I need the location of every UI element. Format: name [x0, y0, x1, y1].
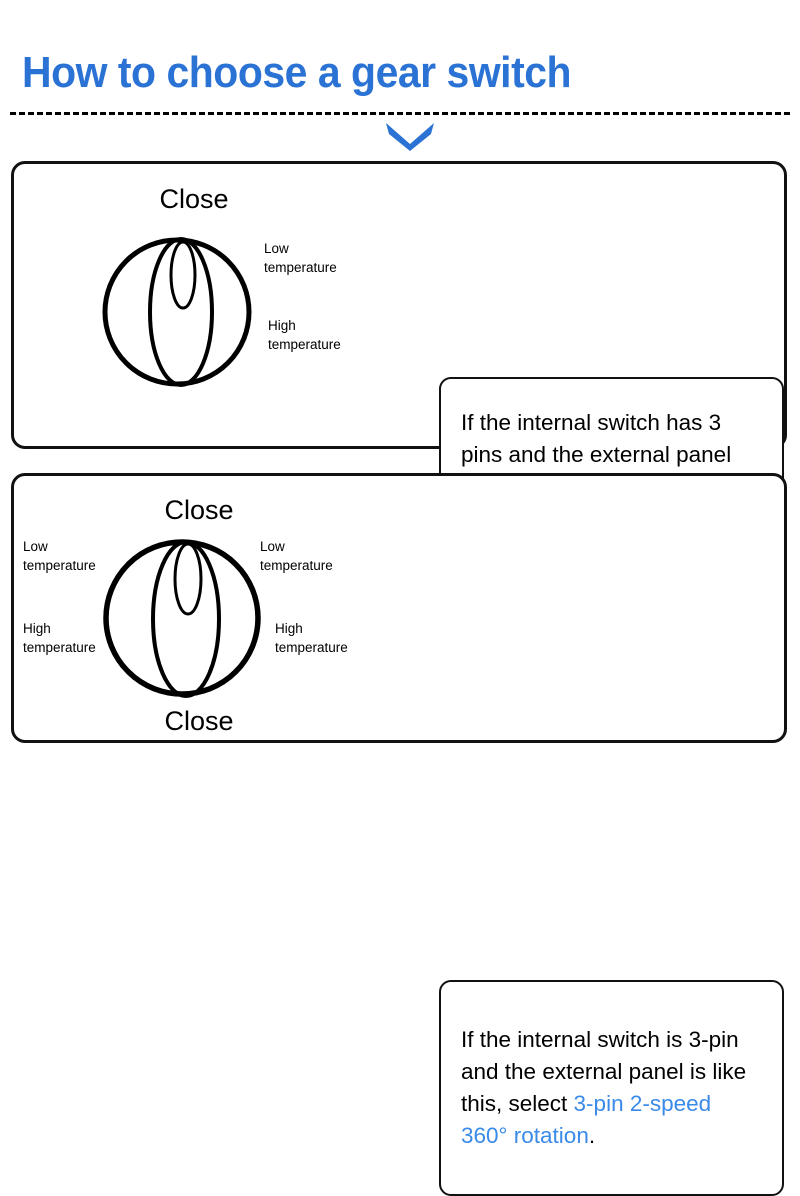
label-line-2: temperature	[264, 259, 337, 278]
note-box-2: If the internal switch is 3-pin and the …	[439, 980, 784, 1196]
dial-1-label-low-temperature: Low temperature	[264, 240, 337, 277]
label-line-2: temperature	[268, 336, 341, 355]
label-line-2: temperature	[23, 639, 96, 658]
note-text-2: If the internal switch is 3-pin and the …	[441, 1024, 782, 1152]
dial-2-label-right-high-temperature: High temperature	[275, 620, 348, 657]
dial-2-bottom-label: Close	[134, 708, 264, 735]
label-line-1: Low	[23, 538, 96, 557]
dial-indicator-ellipse	[171, 242, 195, 308]
dial-2-top-label: Close	[134, 497, 264, 524]
panel-3-pin-2-speed-360: Close Close Low temperature High tempera…	[11, 473, 787, 743]
label-line-2: temperature	[23, 557, 96, 576]
panel-3-pin-2nd-gear: Close Low temperature High temperature I…	[11, 161, 787, 449]
dial-knob-ellipse	[150, 239, 212, 385]
note-seg-period-b: .	[589, 1123, 595, 1148]
label-line-1: Low	[264, 240, 337, 259]
dial-2-label-right-low-temperature: Low temperature	[260, 538, 333, 575]
dial-2-label-left-high-temperature: High temperature	[23, 620, 96, 657]
chevron-down-icon	[385, 122, 435, 152]
dial-outer-circle	[105, 240, 249, 384]
label-line-1: High	[268, 317, 341, 336]
dial-knob-ellipse	[153, 542, 219, 696]
label-line-1: Low	[260, 538, 333, 557]
label-line-2: temperature	[260, 557, 333, 576]
label-line-2: temperature	[275, 639, 348, 658]
dial-1-top-label: Close	[129, 186, 259, 213]
dial-2-label-left-low-temperature: Low temperature	[23, 538, 96, 575]
label-line-1: High	[23, 620, 96, 639]
page-title: How to choose a gear switch	[22, 48, 571, 98]
dial-outer-circle	[106, 542, 258, 694]
dashed-divider	[10, 112, 790, 115]
label-line-1: High	[275, 620, 348, 639]
dial-indicator-ellipse	[175, 544, 201, 614]
dial-1-label-high-temperature: High temperature	[268, 317, 341, 354]
